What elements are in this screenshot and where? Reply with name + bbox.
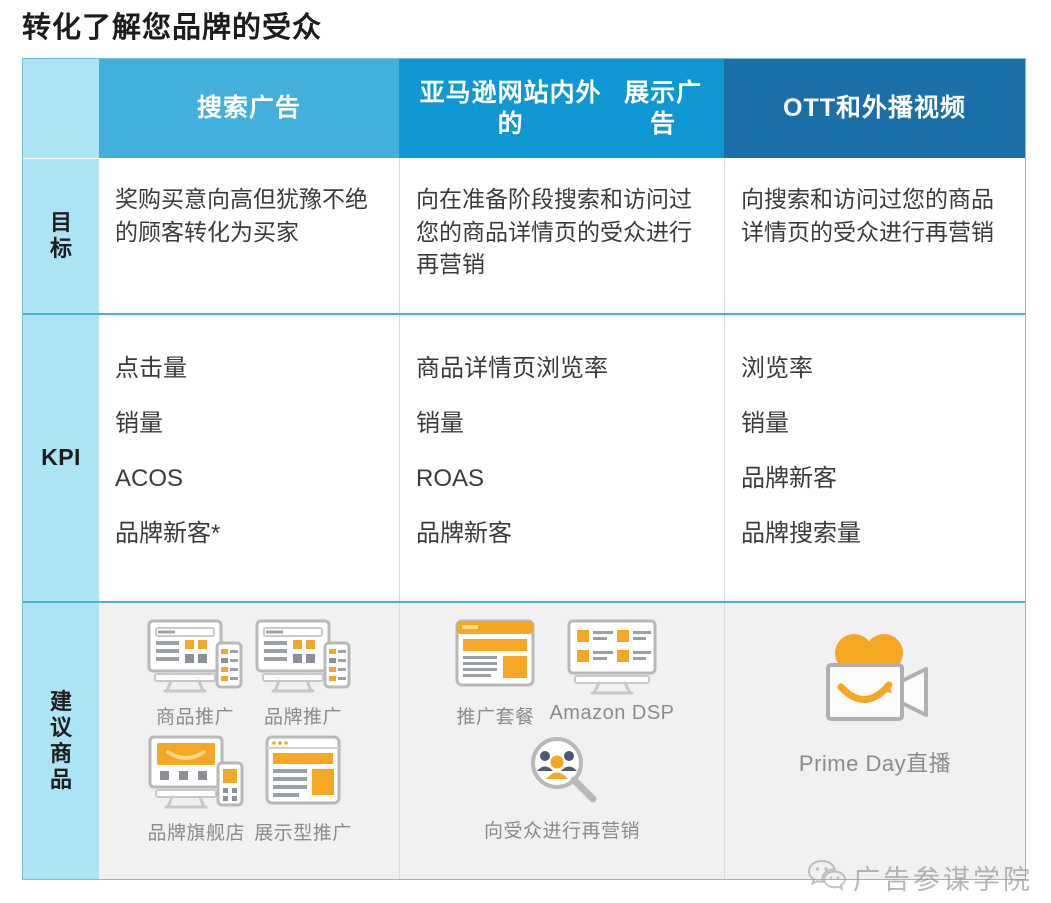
row-label-goal: 目标 [23, 159, 99, 313]
product-caption: Prime Day直播 [799, 746, 951, 778]
kpi-list-display-ads: 商品详情页浏览率 销量 ROAS 品牌新客 [416, 357, 706, 546]
monitor-phone-listing-icon [145, 617, 245, 700]
row-label-goal-text: 目标 [46, 210, 76, 262]
product-caption: 品牌旗舰店 [147, 818, 245, 845]
kpi-cell-search-ads: 点击量 销量 ACOS 品牌新客* [99, 315, 399, 601]
header-cell-display-ads-line2: 展示广告 [612, 78, 714, 140]
table-row-kpi: KPI 点击量 销量 ACOS 品牌新客* 商品详情页浏览率 销量 ROAS 品… [23, 313, 1025, 601]
goal-cell-display-ads: 向在准备阶段搜索和访问过您的商品详情页的受众进行再营销 [399, 159, 724, 313]
header-cell-ott-video: OTT和外播视频 [724, 59, 1025, 158]
kpi-item: 品牌新客 [416, 522, 706, 546]
kpi-cell-ott-video: 浏览率 销量 品牌新客 品牌搜索量 [724, 315, 1025, 601]
products-cell-search-ads: 商品推广 [99, 603, 399, 879]
product-caption: 展示型推广 [254, 818, 352, 845]
product-item-sponsored-brands[interactable]: 品牌推广 [253, 617, 353, 729]
promo-package-page-icon [449, 617, 541, 700]
header-cell-display-ads: 亚马逊网站内外的 展示广告 [399, 59, 724, 158]
kpi-item: 销量 [416, 412, 706, 436]
kpi-item: ROAS [416, 467, 706, 491]
row-label-recommended-products: 建议商品 [23, 603, 99, 879]
header-corner-cell [23, 59, 99, 158]
row-label-kpi: KPI [23, 315, 99, 601]
product-item-sponsored-display[interactable]: 展示型推广 [254, 733, 352, 845]
kpi-item: 品牌新客 [741, 467, 1007, 491]
goal-cell-ott-video: 向搜索和访问过您的商品详情页的受众进行再营销 [724, 159, 1025, 313]
kpi-item: 销量 [741, 412, 1007, 436]
row-label-recommended-products-text: 建议商品 [46, 689, 76, 793]
products-cell-ott-video: Prime Day直播 [724, 603, 1025, 879]
watermark-text: 广告参谋学院 [853, 858, 1033, 897]
kpi-item: 点击量 [115, 357, 381, 381]
page-title: 转化了解您品牌的受众 [22, 4, 322, 46]
kpi-list-search-ads: 点击量 销量 ACOS 品牌新客* [115, 357, 381, 546]
product-item-prime-day-live[interactable]: Prime Day直播 [737, 631, 1013, 778]
goal-text-display-ads: 向在准备阶段搜索和访问过您的商品详情页的受众进行再营销 [416, 183, 706, 281]
table-row-recommended-products: 建议商品 [23, 601, 1025, 879]
kpi-item: 销量 [115, 412, 381, 436]
watermark: 广告参谋学院 [807, 858, 1033, 897]
product-item-amazon-dsp[interactable]: Amazon DSP [549, 617, 674, 729]
audience-magnifier-icon [521, 733, 603, 814]
product-icon-grid-ott-video: Prime Day直播 [733, 615, 1017, 780]
table-header-row: 搜索广告 亚马逊网站内外的 展示广告 OTT和外播视频 [23, 59, 1025, 158]
kpi-list-ott-video: 浏览率 销量 品牌新客 品牌搜索量 [741, 357, 1007, 546]
goal-text-ott-video: 向搜索和访问过您的商品详情页的受众进行再营销 [741, 183, 1007, 248]
row-label-kpi-text: KPI [41, 444, 81, 471]
kpi-item: 浏览率 [741, 357, 1007, 381]
goal-cell-search-ads: 奖购买意向高但犹豫不绝的顾客转化为买家 [99, 159, 399, 313]
monitor-phone-store-icon [146, 733, 246, 816]
kpi-item: 品牌搜索量 [741, 522, 1007, 546]
product-caption: 向受众进行再营销 [484, 816, 640, 843]
product-caption: 品牌推广 [264, 702, 342, 729]
kpi-item: ACOS [115, 467, 381, 491]
wechat-icon [807, 858, 847, 897]
goal-text-search-ads: 奖购买意向高但犹豫不绝的顾客转化为买家 [115, 183, 381, 248]
header-cell-search-ads: 搜索广告 [99, 59, 399, 158]
video-camera-smile-icon [814, 631, 936, 740]
product-item-audience-remarketing[interactable]: 向受众进行再营销 [412, 733, 712, 843]
product-icon-grid-display-ads: 推广套餐 [408, 615, 716, 845]
product-item-promo-package[interactable]: 推广套餐 [449, 617, 541, 729]
products-cell-display-ads: 推广套餐 [399, 603, 724, 879]
comparison-matrix-table: 搜索广告 亚马逊网站内外的 展示广告 OTT和外播视频 目标 奖购买意向高但犹豫… [22, 58, 1026, 880]
product-item-brand-store[interactable]: 品牌旗舰店 [146, 733, 246, 845]
product-caption: 推广套餐 [456, 702, 534, 729]
kpi-cell-display-ads: 商品详情页浏览率 销量 ROAS 品牌新客 [399, 315, 724, 601]
display-page-icon [257, 733, 349, 816]
kpi-item: 品牌新客* [115, 522, 381, 546]
monitor-grid-icon [559, 617, 665, 700]
monitor-phone-listing-icon [253, 617, 353, 700]
product-icon-grid-search-ads: 商品推广 [107, 615, 391, 847]
product-caption: Amazon DSP [549, 702, 674, 725]
product-caption: 商品推广 [156, 702, 234, 729]
product-item-sponsored-products[interactable]: 商品推广 [145, 617, 245, 729]
header-cell-display-ads-line1: 亚马逊网站内外的 [409, 78, 612, 140]
kpi-item: 商品详情页浏览率 [416, 357, 706, 381]
table-row-goal: 目标 奖购买意向高但犹豫不绝的顾客转化为买家 向在准备阶段搜索和访问过您的商品详… [23, 158, 1025, 313]
